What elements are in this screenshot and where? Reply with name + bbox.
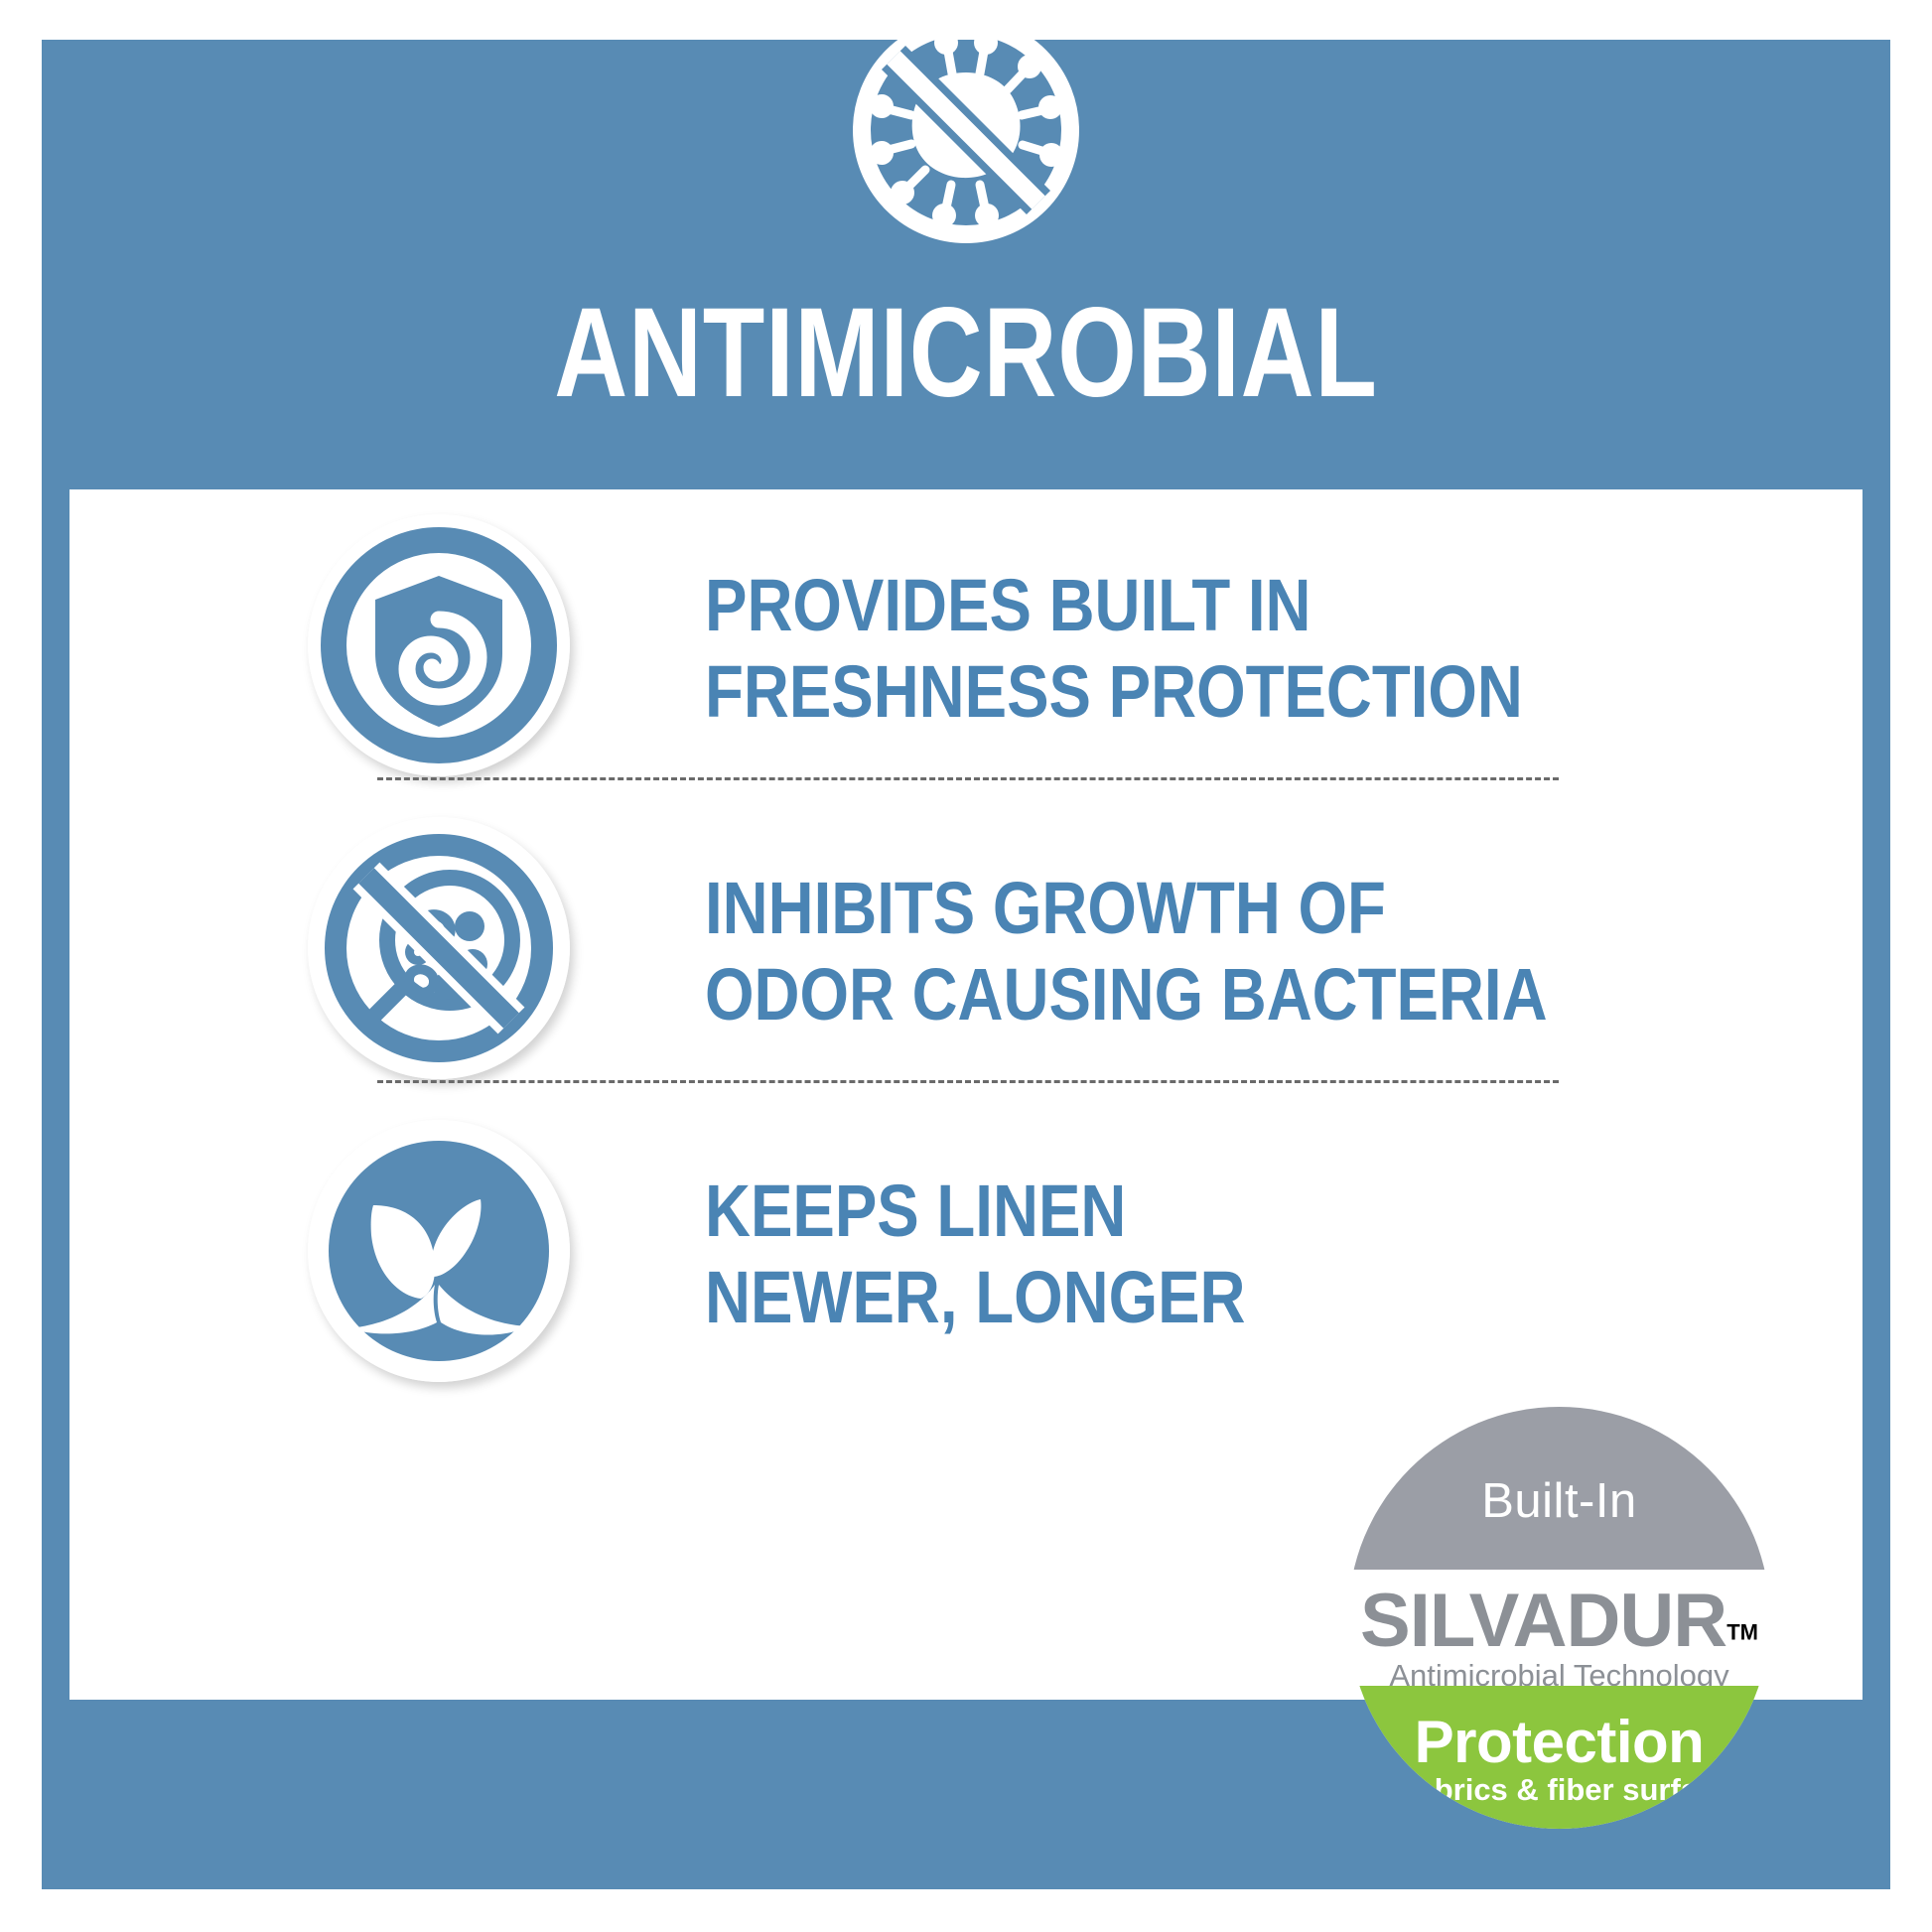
badge-middle-band: SILVADURTM Antimicrobial Technology bbox=[1348, 1570, 1770, 1686]
shield-freshness-icon bbox=[308, 514, 570, 776]
trademark-symbol: TM bbox=[1726, 1619, 1758, 1644]
infographic-page: ANTIMICROBIAL PROVIDES BUILT IN FRESHNES… bbox=[0, 0, 1932, 1932]
silvadur-badge: Built-In SILVADURTM Antimicrobial Techno… bbox=[1348, 1407, 1770, 1829]
no-germ-icon bbox=[848, 12, 1084, 248]
feature-text: PROVIDES BUILT IN FRESHNESS PROTECTION bbox=[705, 562, 1523, 736]
badge-built-in-label: Built-In bbox=[1481, 1448, 1637, 1529]
feature-row: INHIBITS GROWTH OF ODOR CAUSING BACTERIA bbox=[69, 802, 1863, 1100]
leaf-sprout-icon bbox=[308, 1120, 570, 1382]
no-bacteria-magnifier-icon bbox=[308, 817, 570, 1079]
badge-bottom-band: Protection to fabrics & fiber surfaces bbox=[1348, 1686, 1770, 1830]
feature-text: KEEPS LINEN NEWER, LONGER bbox=[705, 1168, 1245, 1341]
page-title: ANTIMICROBIAL bbox=[226, 290, 1706, 417]
silvadur-wordmark: SILVADUR bbox=[1360, 1578, 1726, 1664]
row-divider bbox=[377, 1080, 1559, 1083]
feature-icon-wrapper bbox=[308, 1120, 576, 1388]
badge-protection-label: Protection bbox=[1348, 1708, 1770, 1776]
badge-protection-sublabel: to fabrics & fiber surfaces bbox=[1348, 1772, 1770, 1808]
row-divider bbox=[377, 777, 1559, 780]
feature-row: KEEPS LINEN NEWER, LONGER bbox=[69, 1105, 1863, 1403]
feature-row: PROVIDES BUILT IN FRESHNESS PROTECTION bbox=[69, 499, 1863, 797]
feature-icon-wrapper bbox=[308, 817, 576, 1085]
feature-icon-wrapper bbox=[308, 514, 576, 782]
badge-top-band: Built-In bbox=[1348, 1407, 1770, 1570]
header: ANTIMICROBIAL bbox=[42, 40, 1890, 486]
feature-text: INHIBITS GROWTH OF ODOR CAUSING BACTERIA bbox=[705, 865, 1548, 1038]
